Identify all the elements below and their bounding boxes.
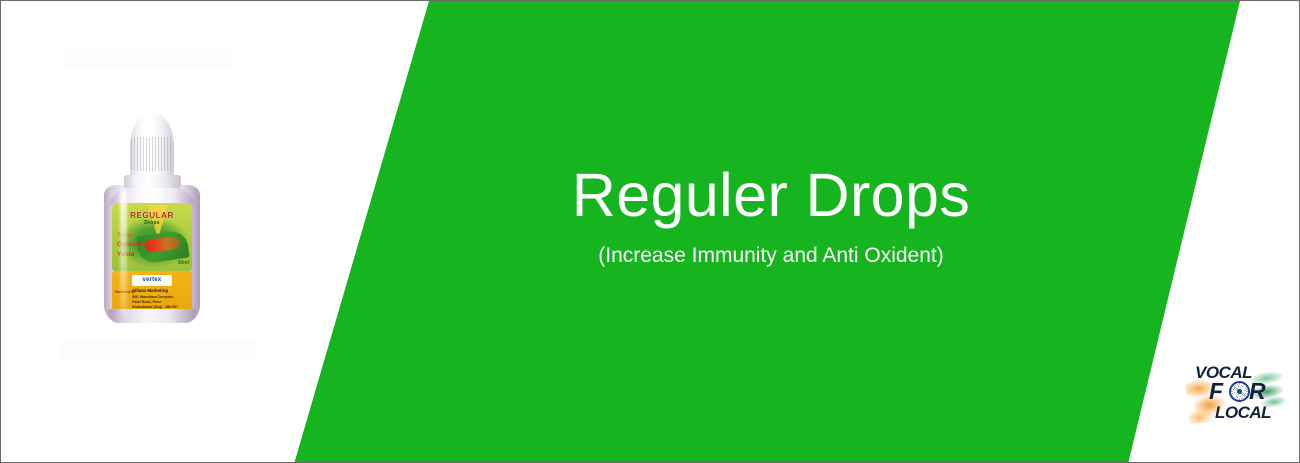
- address-line-2: Patel Road, Pune: [132, 300, 161, 304]
- label-volume: 30ml: [178, 260, 189, 266]
- product-banner: REGULAR Drops Tulsi Curcumin Yukta 30ml …: [0, 0, 1300, 463]
- manufacturer-company-name: Allianz Marketing: [132, 288, 190, 295]
- vocal-for-local-logo: VOCAL F R LOCAL: [1187, 364, 1285, 426]
- vfl-for-letter-f: F: [1209, 380, 1223, 403]
- bottle-collar: [124, 175, 181, 188]
- watermark-top: [63, 47, 231, 67]
- watermark-bottom: [59, 341, 257, 359]
- address-line-1: 306, Mundhwa Complex,: [132, 295, 174, 299]
- ashoka-chakra-icon: [1229, 381, 1250, 402]
- product-bottle: REGULAR Drops Tulsi Curcumin Yukta 30ml …: [104, 113, 200, 323]
- bottle-highlight: [120, 189, 127, 317]
- vfl-line-local: LOCAL: [1215, 404, 1271, 421]
- ashoka-chakra-hub: [1237, 389, 1242, 394]
- bottle-cap-ribs-icon: [131, 137, 173, 171]
- manufacturer-logo-text: vertex: [132, 277, 172, 283]
- manufacturer-logo-plate: vertex: [132, 275, 172, 286]
- vfl-for-letter-r: R: [1249, 380, 1265, 403]
- vfl-line-vocal: VOCAL: [1195, 364, 1252, 381]
